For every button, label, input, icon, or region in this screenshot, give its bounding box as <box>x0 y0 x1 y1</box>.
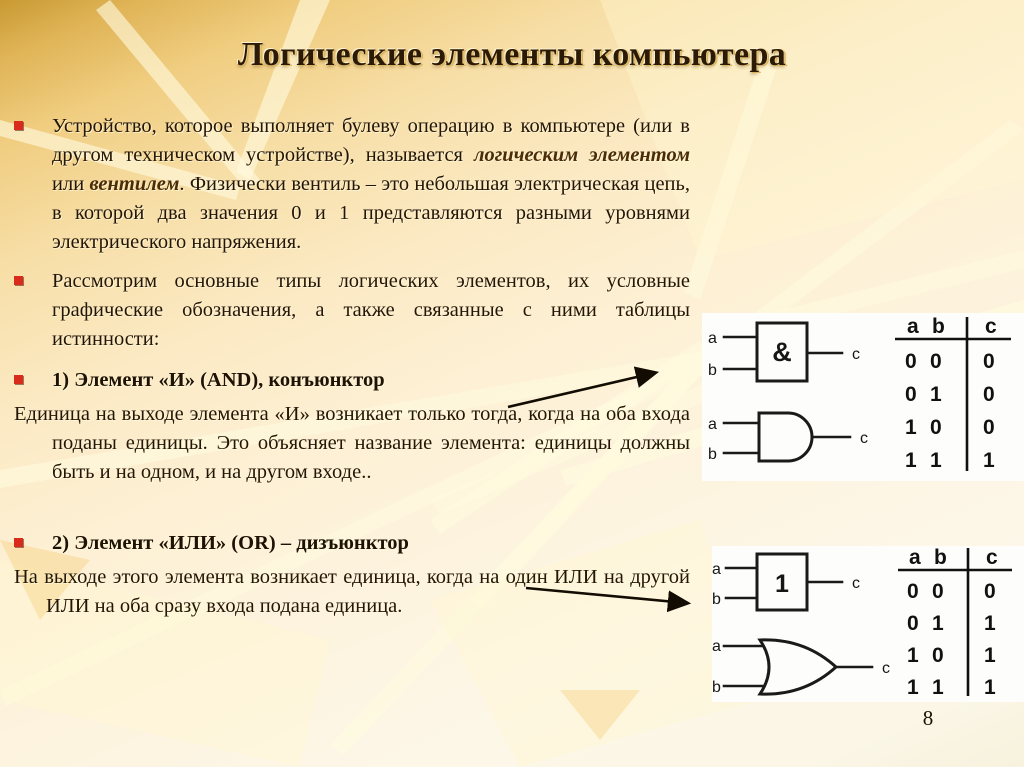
and-table-r0-c: 0 <box>983 350 995 373</box>
page-number: 8 <box>908 706 948 731</box>
and-table-r2-b: 0 <box>930 416 942 439</box>
or-table-r0-c: 0 <box>984 580 996 603</box>
pointer-arrow-to-or-figure <box>520 578 705 623</box>
or-table-r2-b: 0 <box>932 644 944 667</box>
and-table-r2-c: 0 <box>983 416 995 439</box>
or-gate-diagram: a b c a b c 1 a b c 0 0 0 0 1 <box>712 546 1024 702</box>
and-table-header-c: c <box>985 315 997 338</box>
or-ansi-input-b-label: b <box>712 679 721 696</box>
or-table-r1-b: 1 <box>932 612 944 635</box>
and-gost-symbol-label: & <box>772 337 792 367</box>
or-table-r3-a: 1 <box>907 676 919 699</box>
paragraph-definition: Устройство, которое выполняет булеву опе… <box>14 112 690 257</box>
definition-emph-logical-element: логическим элементом <box>474 144 690 166</box>
or-table-r3-c: 1 <box>984 676 996 699</box>
or-table-r3-b: 1 <box>932 676 944 699</box>
definition-emph-gate: вентилем <box>90 173 180 195</box>
bullet-block-overview: Рассмотрим основные типы логических элем… <box>14 267 690 354</box>
figure-panel-or: a b c a b c 1 a b c 0 0 0 0 1 <box>712 546 1024 702</box>
or-table-r2-c: 1 <box>984 644 996 667</box>
and-ansi-output-label: c <box>860 430 868 447</box>
or-table-r0-a: 0 <box>907 580 919 603</box>
or-ansi-input-a-label: a <box>712 638 721 655</box>
or-gost-input-a-label: a <box>712 561 721 578</box>
and-table-r0-a: 0 <box>905 350 917 373</box>
and-table-r3-c: 1 <box>983 449 995 472</box>
bullet-marker-icon <box>14 375 23 384</box>
or-table-r1-c: 1 <box>984 612 996 635</box>
and-gate-diagram: a b c a b c & a b c 0 0 0 0 1 <box>702 313 1024 481</box>
bullet-marker-icon <box>14 276 23 285</box>
bullet-marker-icon <box>14 121 23 130</box>
and-gost-input-b-label: b <box>708 362 717 379</box>
page-title: Логические элементы компьютера <box>238 36 786 74</box>
figure-panel-and: a b c a b c & a b c 0 0 0 0 1 <box>702 313 1024 481</box>
or-table-header-c: c <box>986 546 998 569</box>
and-table-header-a: a <box>907 315 919 338</box>
or-gost-output-label: c <box>852 575 860 592</box>
and-table-r1-a: 0 <box>905 383 917 406</box>
and-gost-input-a-label: a <box>708 330 717 347</box>
or-table-r2-a: 1 <box>907 644 919 667</box>
heading-or-element: 2) Элемент «ИЛИ» (OR) – дизъюнктор <box>14 529 690 557</box>
or-table-r1-a: 0 <box>907 612 919 635</box>
or-table-header-b: b <box>934 546 947 569</box>
or-gost-symbol-label: 1 <box>775 570 789 598</box>
and-table-r1-b: 1 <box>930 383 942 406</box>
and-table-r1-c: 0 <box>983 383 995 406</box>
definition-run-3: или <box>52 173 90 195</box>
and-table-r0-b: 0 <box>930 350 942 373</box>
or-gost-input-b-label: b <box>712 591 721 608</box>
or-table-header-a: a <box>909 546 921 569</box>
and-ansi-input-a-label: a <box>708 416 717 433</box>
and-table-header-b: b <box>932 315 945 338</box>
paragraph-overview: Рассмотрим основные типы логических элем… <box>14 267 690 354</box>
and-table-r2-a: 1 <box>905 416 917 439</box>
and-table-r3-a: 1 <box>905 449 917 472</box>
pointer-arrow-to-and-figure <box>500 360 675 420</box>
title-bar: Логические элементы компьютера <box>0 36 1024 74</box>
or-ansi-output-label: c <box>882 660 890 677</box>
and-table-r3-b: 1 <box>930 449 942 472</box>
bullet-block-or-heading: 2) Элемент «ИЛИ» (OR) – дизъюнктор <box>14 529 690 557</box>
and-ansi-input-b-label: b <box>708 446 717 463</box>
and-gost-output-label: c <box>852 346 860 363</box>
slide-canvas: Логические элементы компьютера Устройств… <box>0 0 1024 767</box>
bullet-marker-icon <box>14 538 23 547</box>
bullet-block-definition: Устройство, которое выполняет булеву опе… <box>14 112 690 257</box>
or-table-r0-b: 0 <box>932 580 944 603</box>
